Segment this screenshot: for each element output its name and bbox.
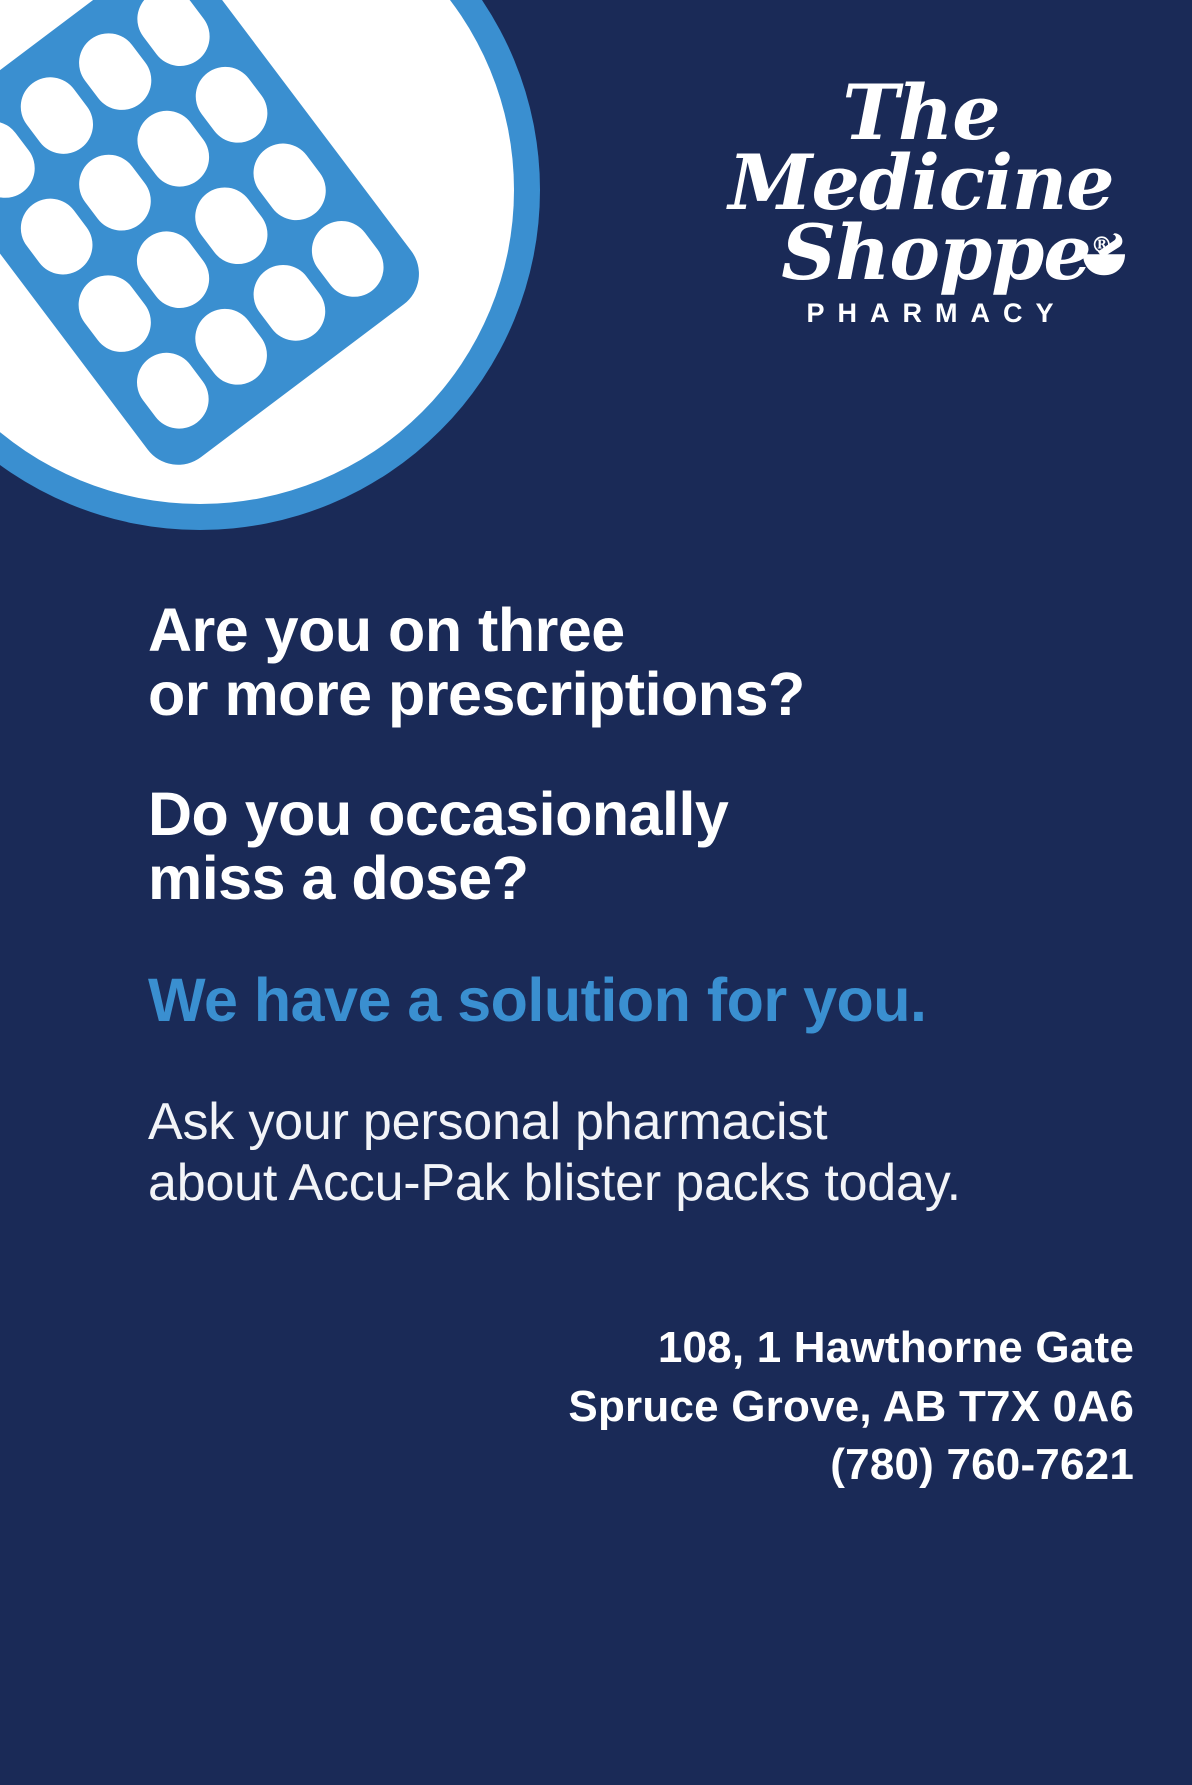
body-line-2: about Accu-Pak blister packs today. <box>148 1153 1078 1213</box>
headline-1-line-2: or more prescriptions? <box>148 662 1078 726</box>
logo-shoppe-text: Shoppe <box>781 208 1090 297</box>
headline-2-line-2: miss a dose? <box>148 846 1078 910</box>
blister-pack-icon <box>0 0 434 480</box>
pharmacy-poster: { "brand": { "logo_line1": "The Medicine… <box>0 0 1192 1785</box>
mortar-and-pestle-icon <box>1076 228 1132 284</box>
logo-line-2: Shoppe® <box>720 218 1140 288</box>
headline-prescriptions: Are you on three or more prescriptions? <box>148 598 1078 726</box>
address-phone[interactable]: (780) 760-7621 <box>568 1436 1134 1495</box>
address-street: 108, 1 Hawthorne Gate <box>568 1319 1134 1378</box>
headline-2-line-1: Do you occasionally <box>148 782 1078 846</box>
headline-1-line-1: Are you on three <box>148 598 1078 662</box>
body-line-1: Ask your personal pharmacist <box>148 1092 1078 1152</box>
store-address-block: 108, 1 Hawthorne Gate Spruce Grove, AB T… <box>568 1319 1134 1495</box>
logo-line-1: The Medicine <box>720 78 1140 218</box>
logo-tagline: PHARMACY <box>720 298 1140 329</box>
main-copy: Are you on three or more prescriptions? … <box>148 598 1078 1213</box>
address-city-region: Spruce Grove, AB T7X 0A6 <box>568 1378 1134 1437</box>
logo-wordmark: The Medicine Shoppe® <box>720 78 1140 288</box>
brand-logo: The Medicine Shoppe® PHARMACY <box>720 78 1140 329</box>
headline-missed-dose: Do you occasionally miss a dose? <box>148 782 1078 910</box>
accent-solution-line: We have a solution for you. <box>148 968 1078 1032</box>
blister-pack-badge <box>0 0 540 530</box>
body-copy: Ask your personal pharmacist about Accu-… <box>148 1092 1078 1213</box>
